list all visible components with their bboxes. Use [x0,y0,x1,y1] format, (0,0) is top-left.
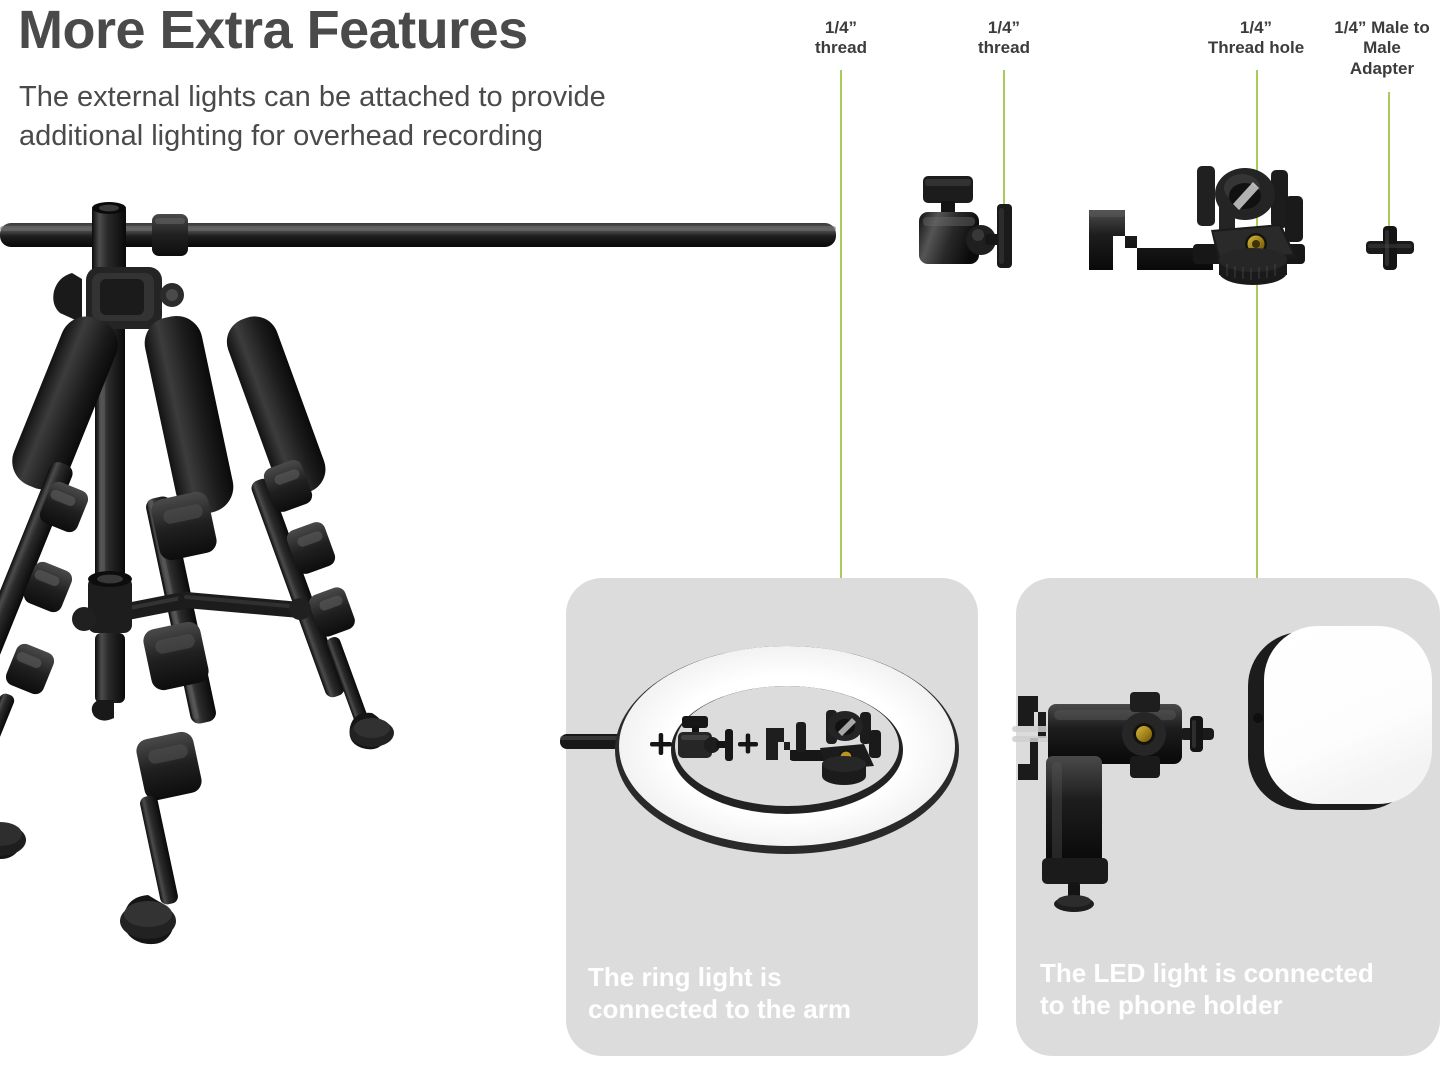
infographic-canvas: More Extra Features The external lights … [0,0,1445,1080]
page-subtitle: The external lights can be attached to p… [19,78,719,156]
callout-label-quarter-thread-ball: 1/4” thread [958,18,1050,59]
ring-light-image [612,630,962,870]
tripod-product-image [0,195,560,1080]
callout-label-quarter-thread-boom: 1/4” thread [795,18,887,59]
ring-light-panel-caption: The ring light is connected to the arm [588,962,948,1025]
leader-line-quarter-thread-boom [840,70,842,582]
holder-thread-hole [1136,726,1152,742]
leader-line-male-to-male-adapter [1388,92,1390,232]
male-to-male-adapter-image [1362,222,1418,274]
ball-head-adapter-image [905,168,1020,278]
leader-line-quarter-thread-hole [1256,70,1258,582]
phone-holder-clamp-image [1085,152,1320,300]
callout-label-quarter-thread-hole: 1/4” Thread hole [1192,18,1320,59]
callout-label-male-to-male-adapter: 1/4” Male to Male Adapter [1320,18,1444,79]
led-panel-light-image [1240,618,1440,828]
led-mount-adapter-screw [1180,716,1214,752]
page-title: More Extra Features [18,2,738,59]
led-light-panel-caption: The LED light is connected to the phone … [1040,958,1440,1021]
